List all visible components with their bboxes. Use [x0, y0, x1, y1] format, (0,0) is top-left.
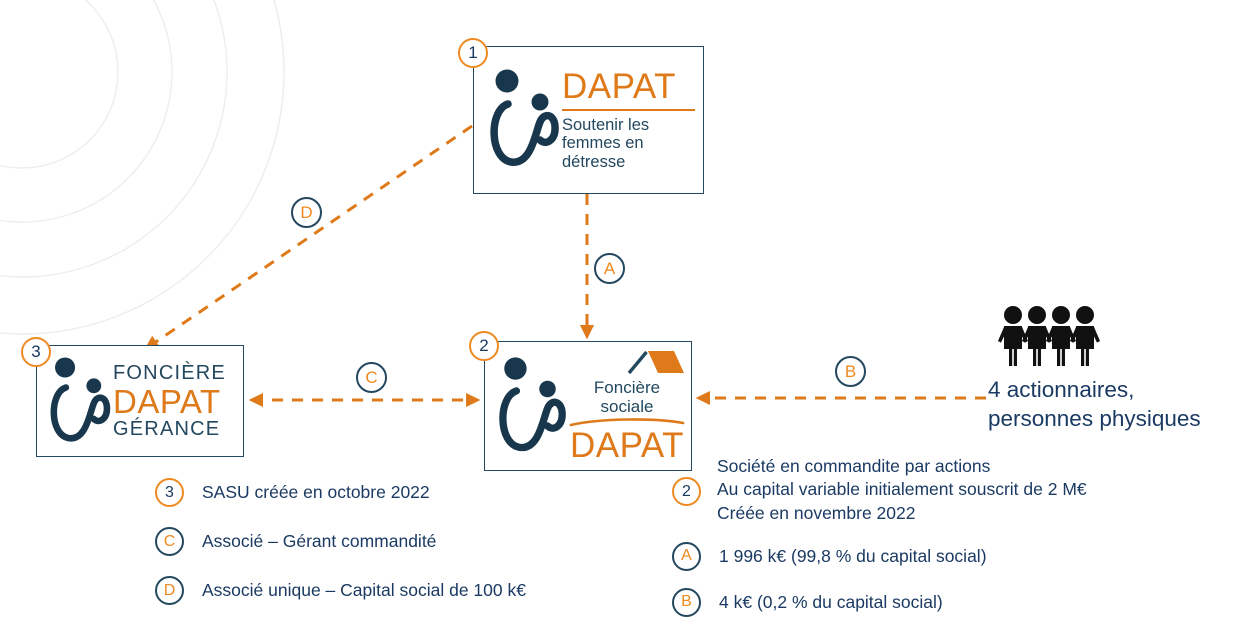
dapat-infinity-logo-icon	[484, 66, 562, 174]
legend-text: Société en commandite par actions Au cap…	[717, 455, 1087, 525]
connector-marker-b[interactable]: B	[835, 356, 866, 387]
four-people-icon	[998, 305, 1104, 367]
dapat-word: DAPAT	[562, 69, 695, 104]
dapat-infinity-logo-icon	[493, 354, 569, 459]
connector-marker-a[interactable]: A	[594, 253, 625, 284]
entity-box-fonciere-sociale-dapat[interactable]: Foncière sociale DAPAT	[484, 341, 692, 471]
dapat-word: DAPAT	[569, 428, 685, 463]
entity-badge-3[interactable]: 3	[21, 337, 51, 367]
legend-marker-d[interactable]: D	[155, 576, 184, 605]
gerance-line-top: FONCIÈRE	[113, 363, 237, 384]
legend-text: 1 996 k€ (99,8 % du capital social)	[719, 542, 987, 568]
entity-badge-2[interactable]: 2	[469, 331, 499, 361]
legend-marker-c[interactable]: C	[155, 527, 184, 556]
connector-marker-c[interactable]: C	[356, 362, 387, 393]
legend-marker-3[interactable]: 3	[155, 478, 184, 507]
dapat-association-wordmark: DAPAT Soutenir les femmes en détresse	[562, 69, 695, 171]
legend-item: 2 Société en commandite par actions Au c…	[672, 455, 1232, 525]
dapat-word: DAPAT	[113, 385, 237, 418]
dapat-tagline-line1: Soutenir les	[562, 116, 695, 134]
legend-marker-2[interactable]: 2	[672, 477, 701, 506]
dapat-infinity-logo-icon	[45, 354, 113, 449]
house-roof-icon	[627, 349, 685, 379]
legend-text: 4 k€ (0,2 % du capital social)	[719, 588, 943, 614]
entity-box-dapat-association[interactable]: DAPAT Soutenir les femmes en détresse	[473, 46, 704, 194]
fonciere-sociale-wordmark: Foncière sociale DAPAT	[569, 349, 685, 462]
legend-item: D Associé unique – Capital social de 100…	[155, 576, 675, 605]
diagram-canvas: DAPAT Soutenir les femmes en détresse 1 …	[0, 0, 1252, 639]
connector-marker-d[interactable]: D	[291, 197, 322, 228]
legend-marker-b[interactable]: B	[672, 588, 701, 617]
logo-divider-rule	[562, 109, 695, 111]
legend-item: C Associé – Gérant commandité	[155, 527, 675, 556]
entity-box-fonciere-dapat-gerance[interactable]: FONCIÈRE DAPAT GÉRANCE	[36, 345, 244, 457]
legend-item: B 4 k€ (0,2 % du capital social)	[672, 588, 1232, 617]
legend-right-column: 2 Société en commandite par actions Au c…	[672, 455, 1232, 634]
fonciere-sociale-subtitle: Foncière sociale	[569, 379, 685, 416]
legend-item: 3 SASU créée en octobre 2022	[155, 478, 675, 507]
shareholders-group: 4 actionnaires, personnes physiques	[988, 305, 1238, 434]
house-roof-icon-wrapper	[569, 349, 685, 379]
legend-text: Associé unique – Capital social de 100 k…	[202, 576, 526, 602]
legend-text: Associé – Gérant commandité	[202, 527, 436, 553]
dapat-tagline-line2: femmes en détresse	[562, 134, 695, 171]
legend-text: SASU créée en octobre 2022	[202, 478, 430, 504]
legend-item: A 1 996 k€ (99,8 % du capital social)	[672, 542, 1232, 571]
gerance-wordmark: FONCIÈRE DAPAT GÉRANCE	[113, 363, 237, 440]
legend-marker-a[interactable]: A	[672, 542, 701, 571]
legend-left-column: 3 SASU créée en octobre 2022 C Associé –…	[155, 478, 675, 625]
shareholders-label: 4 actionnaires, personnes physiques	[988, 376, 1238, 434]
gerance-line-bottom: GÉRANCE	[113, 419, 237, 440]
connector-line-d	[147, 126, 472, 348]
entity-badge-1[interactable]: 1	[458, 38, 488, 68]
